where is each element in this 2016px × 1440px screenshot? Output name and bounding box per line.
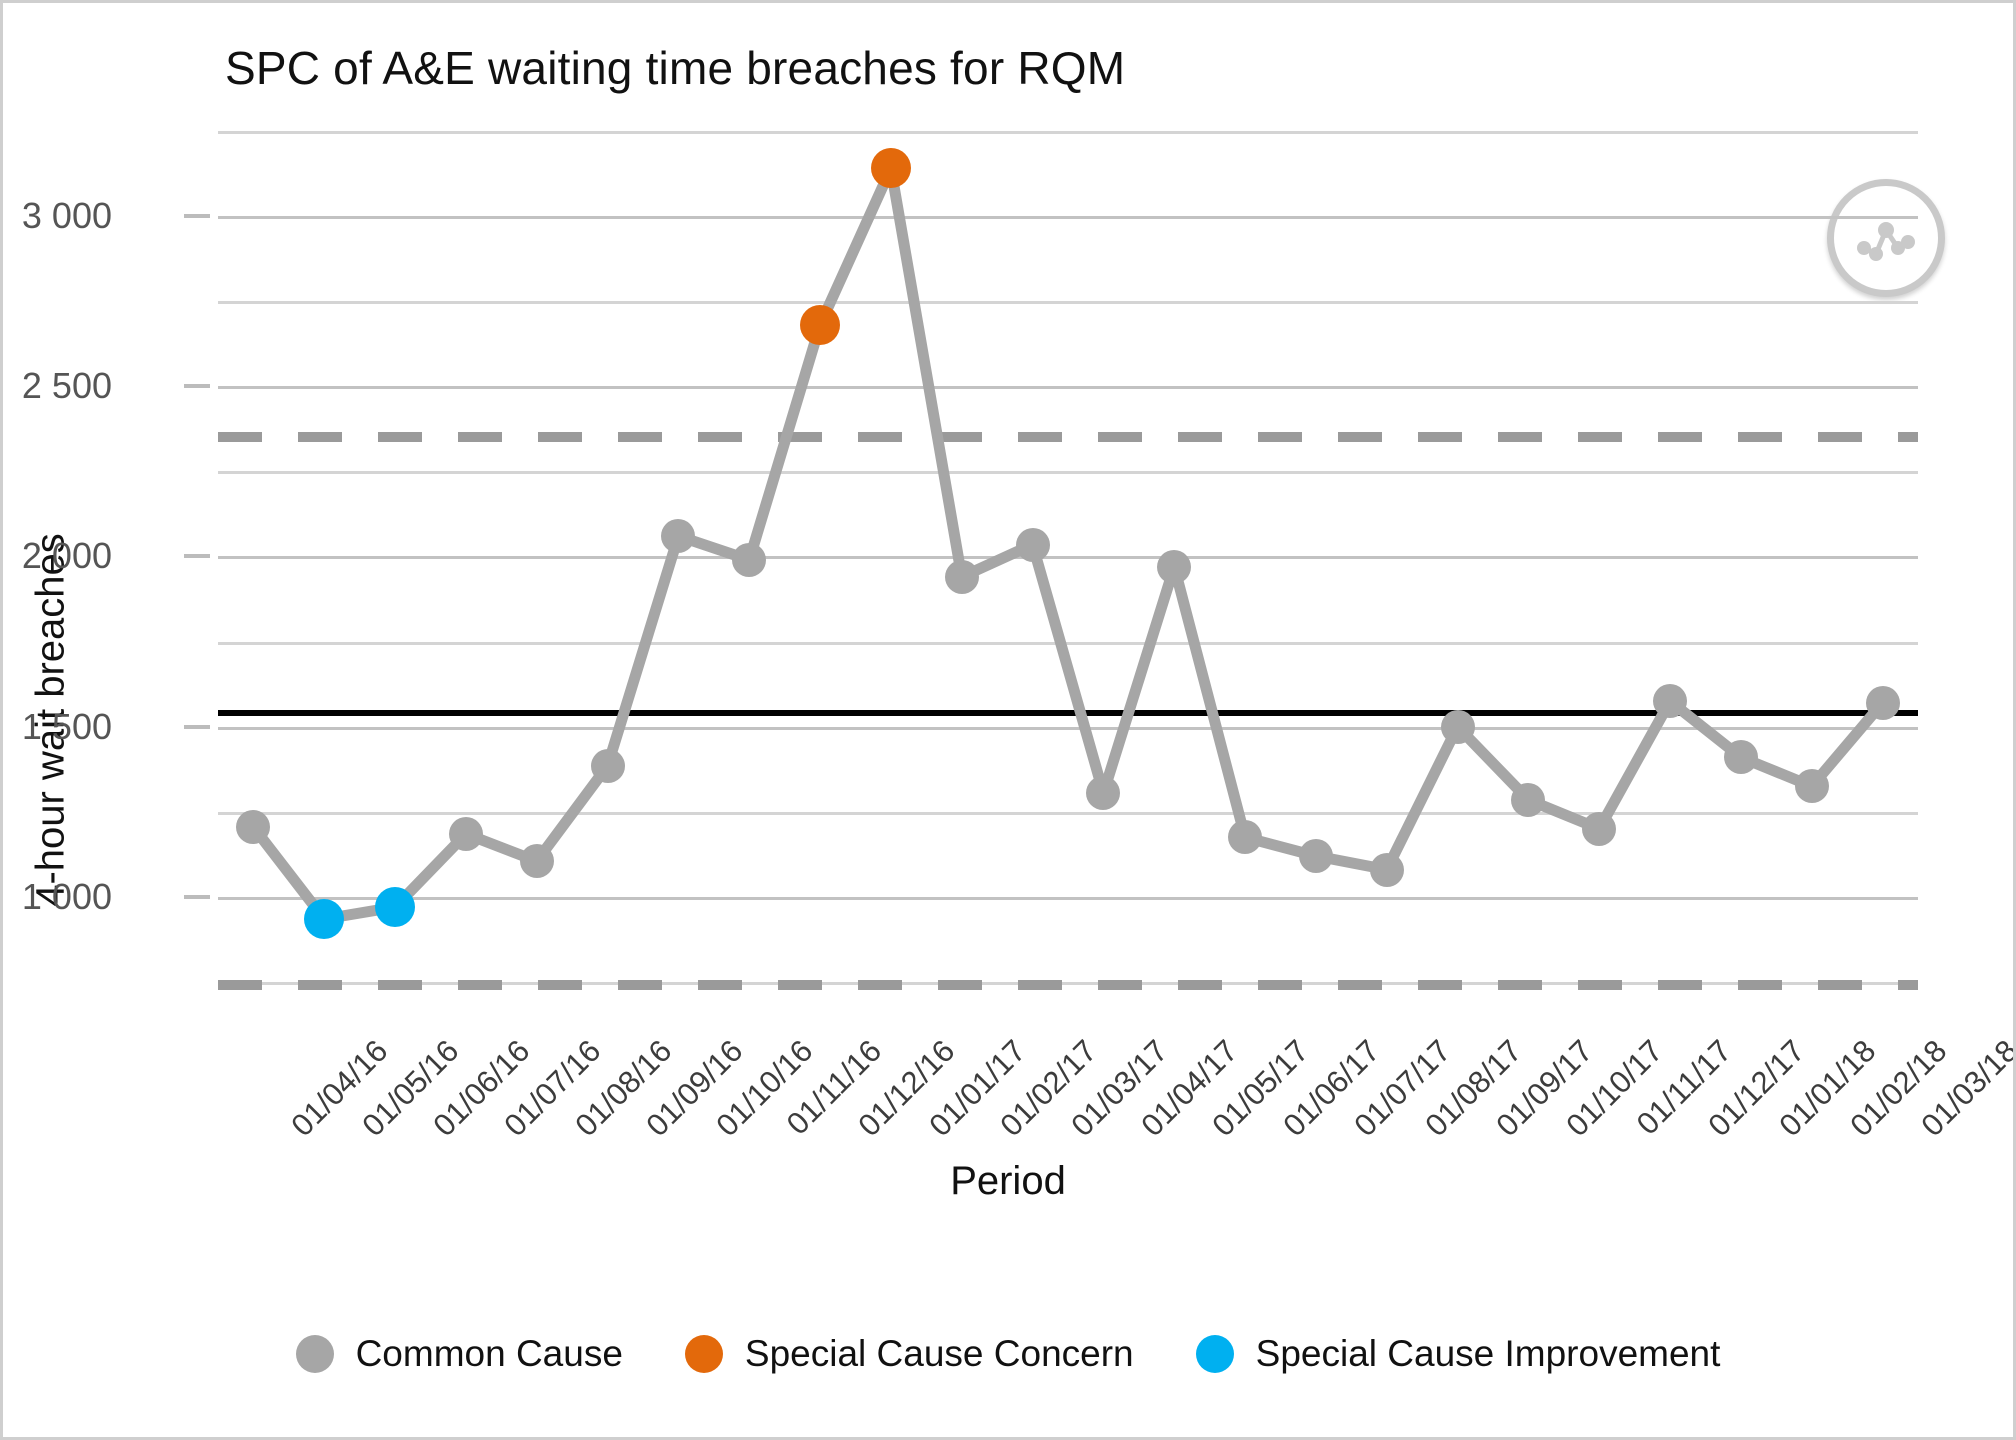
data-point-common[interactable] xyxy=(1866,686,1900,720)
data-point-common[interactable] xyxy=(1086,776,1120,810)
data-point-common[interactable] xyxy=(732,543,766,577)
data-point-common[interactable] xyxy=(1653,684,1687,718)
x-axis-title: Period xyxy=(3,1159,2013,1204)
legend-item[interactable]: Common Cause xyxy=(296,1333,623,1375)
legend-marker-icon xyxy=(296,1335,334,1373)
y-axis-tick-mark xyxy=(184,725,210,729)
data-point-common[interactable] xyxy=(1370,853,1404,887)
data-point-concern[interactable] xyxy=(871,148,911,188)
data-point-common[interactable] xyxy=(520,844,554,878)
data-point-common[interactable] xyxy=(1157,550,1191,584)
y-axis-tick-label: 2 500 xyxy=(22,365,112,407)
x-axis-ticks: 01/04/1601/05/1601/06/1601/07/1601/08/16… xyxy=(218,1013,1918,1163)
y-axis-tick-mark xyxy=(184,384,210,388)
data-point-concern[interactable] xyxy=(800,305,840,345)
chart-canvas: SPC of A&E waiting time breaches for RQM… xyxy=(0,0,2016,1440)
y-axis-tick-label: 1 500 xyxy=(22,706,112,748)
data-point-common[interactable] xyxy=(1228,820,1262,854)
y-axis-tick-label: 3 000 xyxy=(22,195,112,237)
data-point-common[interactable] xyxy=(1016,528,1050,562)
data-point-common[interactable] xyxy=(1441,710,1475,744)
data-point-improvement[interactable] xyxy=(304,899,344,939)
legend-label: Special Cause Concern xyxy=(745,1333,1134,1375)
data-point-common[interactable] xyxy=(1299,839,1333,873)
chart-legend: Common CauseSpecial Cause ConcernSpecial… xyxy=(3,1333,2013,1375)
data-point-common[interactable] xyxy=(1724,740,1758,774)
legend-item[interactable]: Special Cause Improvement xyxy=(1196,1333,1721,1375)
data-point-common[interactable] xyxy=(945,560,979,594)
data-point-common[interactable] xyxy=(1582,812,1616,846)
data-point-common[interactable] xyxy=(1511,783,1545,817)
chart-title: SPC of A&E waiting time breaches for RQM xyxy=(225,41,1125,95)
y-axis-tick-mark xyxy=(184,895,210,899)
series-line xyxy=(218,131,1918,999)
y-axis-tick-label: 1 000 xyxy=(22,876,112,918)
y-axis-tick-mark xyxy=(184,214,210,218)
y-axis-tick-label: 2 000 xyxy=(22,535,112,577)
y-axis-tick-mark xyxy=(184,554,210,558)
data-point-common[interactable] xyxy=(661,519,695,553)
legend-marker-icon xyxy=(685,1335,723,1373)
legend-marker-icon xyxy=(1196,1335,1234,1373)
data-point-common[interactable] xyxy=(236,810,270,844)
legend-label: Special Cause Improvement xyxy=(1256,1333,1721,1375)
data-point-common[interactable] xyxy=(591,749,625,783)
data-point-common[interactable] xyxy=(449,817,483,851)
legend-item[interactable]: Special Cause Concern xyxy=(685,1333,1134,1375)
data-point-improvement[interactable] xyxy=(375,887,415,927)
legend-label: Common Cause xyxy=(356,1333,623,1375)
plot-area: 1 0001 5002 0002 5003 000 xyxy=(218,131,1918,999)
data-point-common[interactable] xyxy=(1795,769,1829,803)
